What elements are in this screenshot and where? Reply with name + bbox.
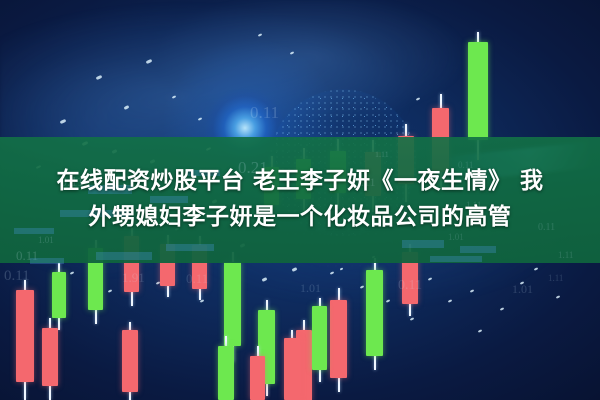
candlestick [312,298,327,382]
candlestick [42,318,58,400]
headline-line-1: 在线配资炒股平台 老王李子妍《一夜生情》 我 [0,163,600,199]
candlestick [284,330,300,400]
candle-body [42,328,58,386]
headline-text: 在线配资炒股平台 老王李子妍《一夜生情》 我 外甥媳妇李子妍是一个化妆品公司的高… [0,163,600,235]
candlestick [366,258,383,370]
candle-body [468,42,488,140]
candlestick [122,322,138,400]
headline-line-2: 外甥媳妇李子妍是一个化妆品公司的高管 [0,199,600,235]
candlestick [16,280,34,400]
candle-body [218,346,234,400]
candlestick [218,336,234,400]
candle-body [284,338,300,400]
candle-body [52,272,66,318]
candle-body [250,356,265,400]
banner-image: 0.110.211.113.110.111.010.110.111.910.11… [0,0,600,400]
candle-body [122,330,138,392]
candlestick [330,288,347,392]
candle-body [224,262,241,346]
candle-body [16,290,34,382]
candle-body [366,270,383,356]
candle-body [312,306,327,370]
candle-body [330,300,347,378]
candlestick [250,346,265,400]
